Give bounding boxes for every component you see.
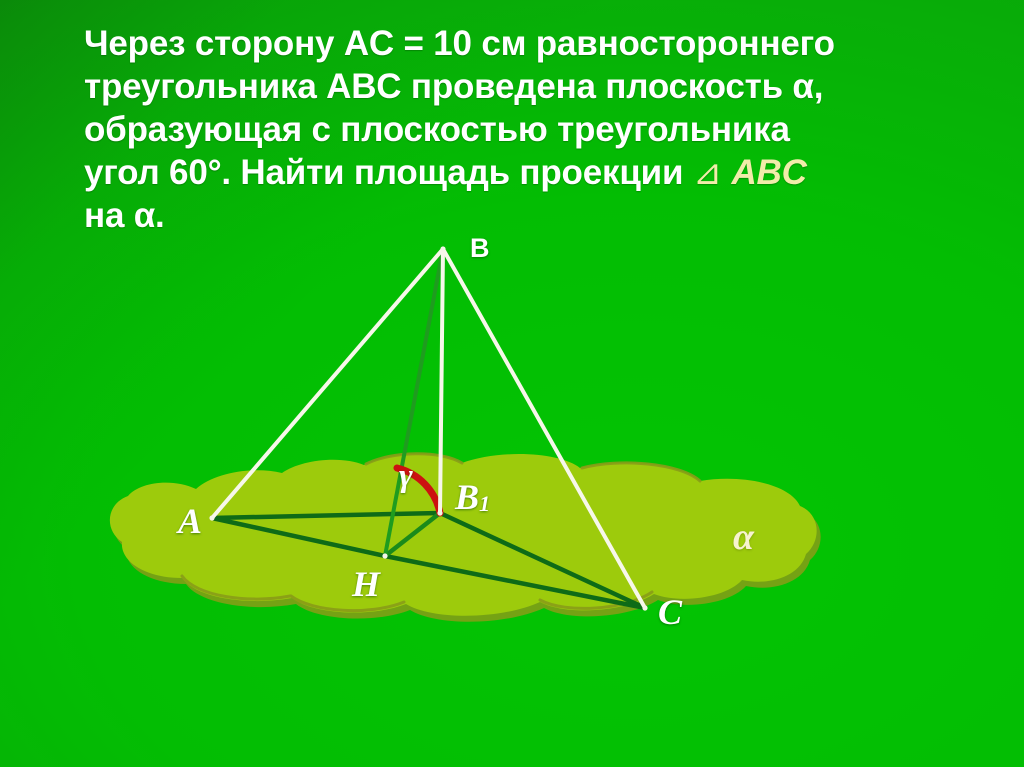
- problem-text-part2: на α.: [84, 196, 165, 235]
- vertex-dot-A: [209, 515, 214, 520]
- point-label-c: C: [658, 591, 682, 633]
- point-label-b1: B1: [455, 476, 490, 518]
- triangle-symbol: ⊿: [693, 153, 732, 192]
- point-label-h: H: [352, 563, 380, 605]
- vertex-dot-C: [642, 605, 647, 610]
- vertex-dot-B: [440, 246, 445, 251]
- presentation-slide: Через сторону AC = 10 см равностороннего…: [0, 0, 1024, 767]
- problem-statement: Через сторону AC = 10 см равностороннего…: [84, 22, 964, 237]
- point-label-b1-letter: B: [455, 477, 479, 517]
- vertex-dot-B1: [437, 510, 442, 515]
- vertex-dot-H: [382, 553, 387, 558]
- plane-label-alpha: α: [733, 515, 754, 559]
- triangle-abc-highlight: ABC: [731, 153, 806, 192]
- point-label-a: A: [178, 500, 202, 542]
- point-label-b: B: [470, 233, 490, 264]
- angle-label-gamma: γ: [399, 458, 413, 495]
- point-label-b1-subscript: 1: [479, 491, 490, 516]
